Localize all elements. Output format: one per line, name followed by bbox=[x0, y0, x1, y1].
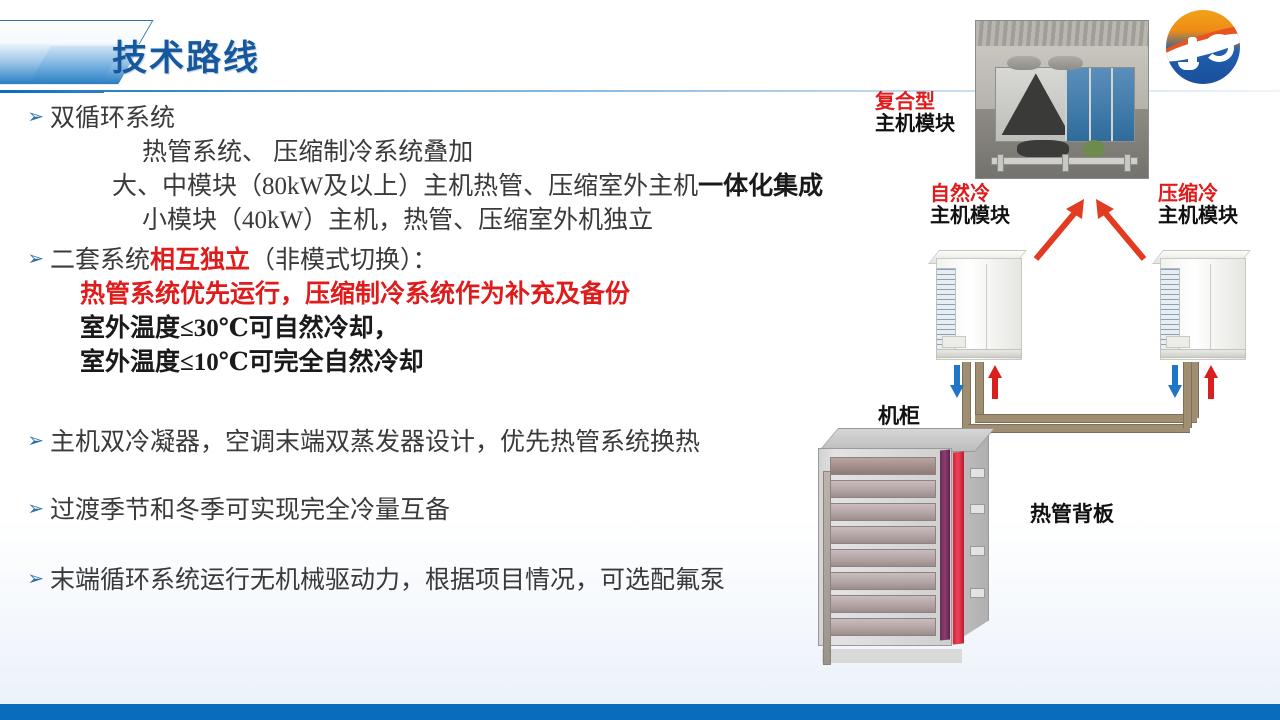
label-cabinet-text: 机柜 bbox=[878, 405, 920, 429]
arrow-up-red-left-icon bbox=[988, 365, 1002, 404]
bullet-line: 小模块（40kW）主机，热管、压缩室外机独立 bbox=[50, 204, 823, 238]
bullet-marker: ➢ bbox=[0, 102, 50, 126]
bullet-line: 热管系统优先运行，压缩制冷系统作为补充及备份 bbox=[50, 278, 630, 312]
label-natural-black: 主机模块 bbox=[930, 204, 1010, 226]
arrow-up-red-right-icon bbox=[1204, 365, 1218, 404]
bullet-list: ➢ 双循环系统 热管系统、 压缩制冷系统叠加 大、中模块（80kW及以上）主机热… bbox=[0, 98, 860, 598]
outdoor-unit-compression-cooling bbox=[1152, 250, 1244, 358]
label-backplate-text: 热管背板 bbox=[1030, 503, 1114, 527]
text-run: 大、中模块（80kW及以上）主机热管、压缩室外主机 bbox=[112, 173, 698, 200]
label-heatpipe-backplate: 热管背板 bbox=[1030, 503, 1114, 527]
page-title: 技术路线 bbox=[112, 30, 260, 81]
company-logo-icon bbox=[1166, 10, 1240, 84]
bullet-line: 过渡季节和冬季可实现完全冷量互备 bbox=[50, 494, 450, 528]
text-run: （非模式切换）： bbox=[250, 247, 438, 274]
chiller-photo bbox=[975, 20, 1149, 179]
text-run: 主机双冷凝器，空调末端双蒸发器设计，优先热管系统换热 bbox=[50, 429, 700, 456]
label-compression-cooling-module: 压缩冷 主机模块 bbox=[1158, 182, 1238, 227]
text-run-emphasis: 一体化集成 bbox=[698, 173, 823, 200]
text-run: 双循环系统 bbox=[50, 105, 175, 132]
bullet-marker: ➢ bbox=[0, 494, 50, 518]
label-composite-red: 复合型 bbox=[875, 90, 955, 112]
bullet-line: 室外温度≤10℃可完全自然冷却 bbox=[50, 346, 630, 380]
label-natural-red: 自然冷 bbox=[930, 182, 1010, 204]
label-natural-cooling-module: 自然冷 主机模块 bbox=[930, 182, 1010, 227]
bullet-line: 大、中模块（80kW及以上）主机热管、压缩室外主机一体化集成 bbox=[50, 170, 823, 204]
arrow-down-blue-right-icon bbox=[1168, 365, 1182, 404]
bullet-line: 二套系统相互独立（非模式切换）： bbox=[50, 244, 630, 278]
bullet-line: 热管系统、 压缩制冷系统叠加 bbox=[50, 136, 823, 170]
bullet-line: 主机双冷凝器，空调末端双蒸发器设计，优先热管系统换热 bbox=[50, 426, 700, 460]
pipe-horizontal-upper bbox=[975, 414, 1197, 423]
text-run: 热管系统、 压缩制冷系统叠加 bbox=[142, 139, 473, 166]
text-run-emphasis: 热管系统优先运行，压缩制冷系统作为补充及备份 bbox=[80, 281, 630, 308]
slide-technical-route: 技术路线 ➢ 双循环系统 热管系统、 压缩制冷系统叠加 大、中模块（80kW及以… bbox=[0, 0, 1280, 720]
text-run: 小模块（40kW）主机，热管、压缩室外机独立 bbox=[142, 207, 653, 234]
text-run: 末端循环系统运行无机械驱动力，根据项目情况，可选配氟泵 bbox=[50, 567, 725, 594]
label-cabinet: 机柜 bbox=[878, 405, 920, 429]
footer-bar bbox=[0, 704, 1280, 720]
bullet-item: ➢ 双循环系统 热管系统、 压缩制冷系统叠加 大、中模块（80kW及以上）主机热… bbox=[0, 102, 860, 238]
bullet-item: ➢ 主机双冷凝器，空调末端双蒸发器设计，优先热管系统换热 bbox=[0, 426, 860, 460]
bullet-item: ➢ 末端循环系统运行无机械驱动力，根据项目情况，可选配氟泵 bbox=[0, 564, 860, 598]
label-composite-module: 复合型 主机模块 bbox=[875, 90, 955, 135]
label-compress-red: 压缩冷 bbox=[1158, 182, 1238, 204]
text-run: 二套系统 bbox=[50, 247, 150, 274]
bullet-line: 末端循环系统运行无机械驱动力，根据项目情况，可选配氟泵 bbox=[50, 564, 725, 598]
bullet-marker: ➢ bbox=[0, 244, 50, 268]
arrow-compression-to-composite-icon bbox=[1090, 195, 1150, 270]
text-run: 过渡季节和冬季可实现完全冷量互备 bbox=[50, 497, 450, 524]
arrow-down-blue-left-icon bbox=[950, 365, 964, 404]
label-compress-black: 主机模块 bbox=[1158, 204, 1238, 226]
pipe-right-return bbox=[1183, 362, 1192, 428]
bullet-marker: ➢ bbox=[0, 564, 50, 588]
server-cabinet-illustration bbox=[818, 428, 1003, 663]
bullet-line: 双循环系统 bbox=[50, 102, 823, 136]
text-run: 室外温度≤10℃可完全自然冷却 bbox=[80, 349, 424, 376]
bullet-item: ➢ 二套系统相互独立（非模式切换）： 热管系统优先运行，压缩制冷系统作为补充及备… bbox=[0, 244, 860, 380]
arrow-natural-to-composite-icon bbox=[1030, 195, 1090, 270]
text-run-emphasis: 相互独立 bbox=[150, 247, 250, 274]
bullet-marker: ➢ bbox=[0, 426, 50, 450]
pipe-left-return bbox=[975, 362, 984, 420]
header-rule-left bbox=[0, 90, 104, 93]
bullet-item: ➢ 过渡季节和冬季可实现完全冷量互备 bbox=[0, 494, 860, 528]
bullet-line: 室外温度≤30℃可自然冷却， bbox=[50, 312, 630, 346]
text-run: 室外温度≤30℃可自然冷却， bbox=[80, 315, 399, 342]
outdoor-unit-natural-cooling bbox=[928, 250, 1020, 358]
label-composite-black: 主机模块 bbox=[875, 112, 955, 134]
